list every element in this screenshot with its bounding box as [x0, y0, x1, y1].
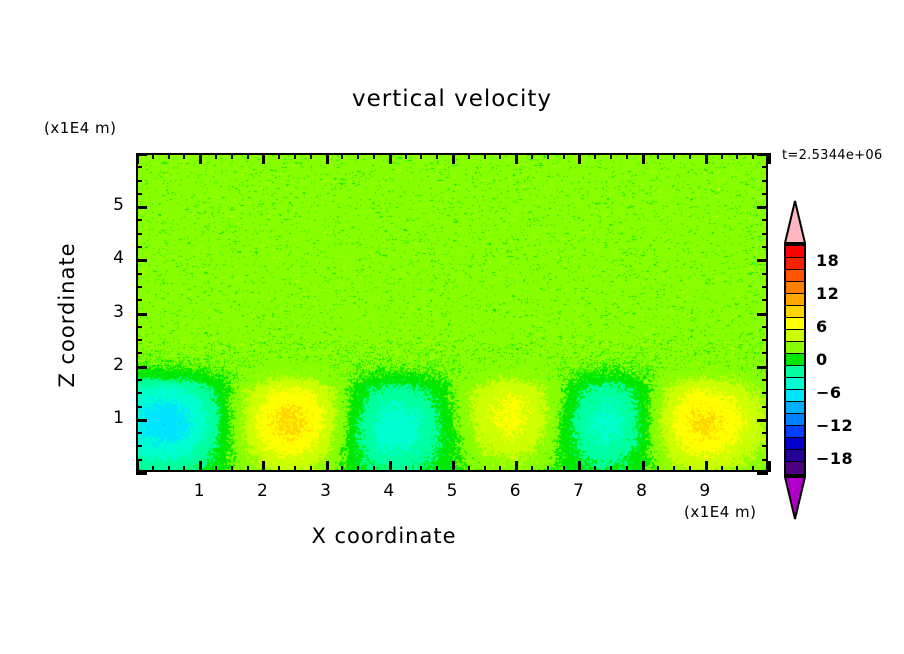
colorbar-band — [786, 378, 804, 390]
x-axis-title: X coordinate — [0, 524, 768, 548]
x-tick-label: 1 — [184, 481, 214, 501]
colorbar-band — [786, 330, 804, 342]
axis-tick — [757, 472, 768, 475]
axis-tick — [768, 461, 771, 472]
colorbar-tick-label: −6 — [816, 383, 842, 402]
x-tick-label: 8 — [627, 481, 657, 501]
colorbar-band — [786, 318, 804, 330]
y-tick-label: 2 — [94, 355, 124, 375]
x-tick-label: 2 — [247, 481, 277, 501]
colorbar-under-cap — [784, 476, 806, 520]
axis-tick — [136, 472, 147, 475]
colorbar-band — [786, 306, 804, 318]
y-tick-label: 3 — [94, 302, 124, 322]
contour-plot-area — [136, 153, 768, 472]
axis-tick — [768, 153, 771, 164]
colorbar-band — [786, 414, 804, 426]
colorbar: 181260−6−12−18 — [778, 200, 898, 520]
colorbar-band — [786, 246, 804, 258]
colorbar-bands — [784, 244, 806, 476]
colorbar-tick-label: 12 — [816, 284, 839, 303]
colorbar-band — [786, 390, 804, 402]
x-tick-label: 6 — [500, 481, 530, 501]
colorbar-band — [786, 462, 804, 474]
colorbar-band — [786, 426, 804, 438]
time-annotation: t=2.5344e+06 — [782, 148, 883, 163]
x-tick-label: 5 — [437, 481, 467, 501]
x-tick-label: 9 — [690, 481, 720, 501]
page-title: vertical velocity — [0, 86, 904, 112]
colorbar-band — [786, 354, 804, 366]
colorbar-tick-label: −12 — [816, 416, 853, 435]
y-tick-label: 1 — [94, 408, 124, 428]
colorbar-band — [786, 258, 804, 270]
x-axis-unit-label: (x1E4 m) — [684, 503, 757, 521]
colorbar-tick-label: 18 — [816, 251, 839, 270]
colorbar-band — [786, 450, 804, 462]
y-tick-label: 4 — [94, 248, 124, 268]
y-tick-label: 5 — [94, 195, 124, 215]
colorbar-band — [786, 402, 804, 414]
colorbar-tick-label: 0 — [816, 350, 828, 369]
colorbar-over-cap — [784, 200, 806, 244]
colorbar-tick-label: −18 — [816, 449, 853, 468]
colorbar-band — [786, 438, 804, 450]
colorbar-band — [786, 342, 804, 354]
colorbar-band — [786, 366, 804, 378]
colorbar-band — [786, 282, 804, 294]
x-tick-label: 3 — [311, 481, 341, 501]
x-tick-label: 4 — [374, 481, 404, 501]
y-axis-unit-label: (x1E4 m) — [44, 119, 117, 137]
vertical-velocity-field — [138, 155, 766, 470]
colorbar-tick-label: 6 — [816, 317, 828, 336]
colorbar-band — [786, 270, 804, 282]
colorbar-band — [786, 294, 804, 306]
x-tick-label: 7 — [563, 481, 593, 501]
y-axis-title: Z coordinate — [55, 185, 79, 445]
